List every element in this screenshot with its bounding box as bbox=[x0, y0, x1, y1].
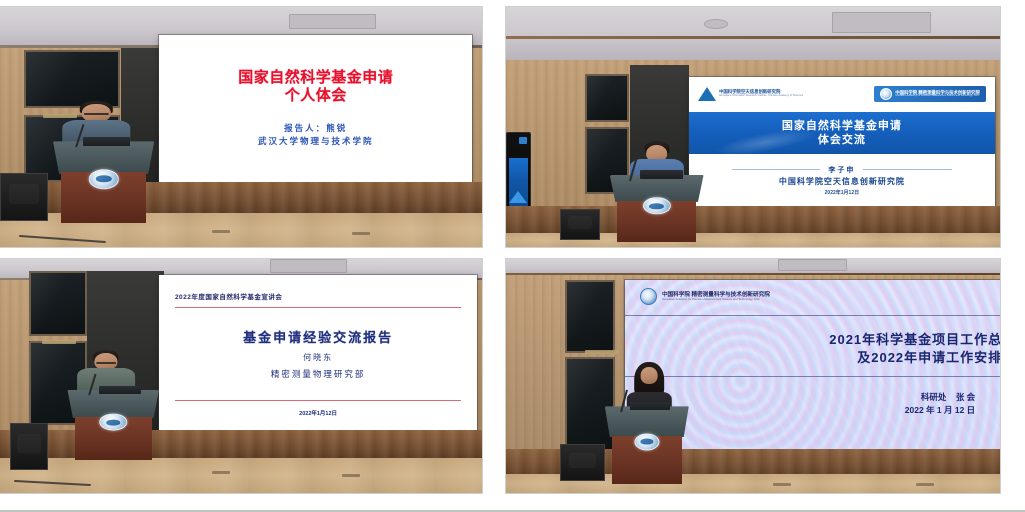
laptop-icon bbox=[99, 386, 141, 394]
slide2-title-band: 国家自然科学基金申请 体会交流 bbox=[689, 112, 995, 155]
apm-logo-en: Innovation Academy for Precision Measure… bbox=[895, 95, 980, 98]
floor-vent-icon bbox=[773, 483, 791, 486]
divider bbox=[863, 169, 952, 170]
panel-top-right[interactable]: 中国科学院空天信息创新研究院 Aerospace Information Res… bbox=[497, 0, 1025, 253]
slide4-logo-bar: 中国科学院 精密测量科学与技术创新研究院 Innovation Academy … bbox=[625, 280, 1001, 314]
projection-screen-2: 中国科学院空天信息创新研究院 Aerospace Information Res… bbox=[689, 77, 995, 207]
slide3-date: 2022年1月12日 bbox=[175, 409, 461, 417]
kiosk-badge-icon bbox=[519, 137, 527, 144]
slide1-title: 国家自然科学基金申请 个人体会 bbox=[172, 69, 460, 104]
photo-top-left: 国家自然科学基金申请 个人体会 报告人：熊锐 武汉大学物理与技术学院 bbox=[0, 6, 483, 248]
slide2-date: 2022年1月12日 bbox=[825, 189, 859, 196]
kiosk-screen bbox=[509, 158, 528, 207]
ceiling-light-icon bbox=[704, 19, 729, 29]
photo-top-right: 中国科学院空天信息创新研究院 Aerospace Information Res… bbox=[505, 6, 1001, 248]
laptop-icon bbox=[630, 402, 670, 410]
floor-vent-icon bbox=[342, 474, 360, 477]
slide3-title: 基金申请经验交流报告 bbox=[175, 327, 461, 346]
podium-logo-icon bbox=[634, 433, 659, 450]
slide2-footer: 李子申 中国科学院空天信息创新研究院 2022年1月12日 bbox=[689, 154, 995, 206]
slide3-affiliation: 精密测量物理研究部 bbox=[175, 368, 461, 380]
podium-3[interactable] bbox=[67, 390, 159, 460]
cas-seal-icon bbox=[640, 288, 657, 305]
loudspeaker-icon bbox=[0, 173, 48, 221]
slide4-header-en: Innovation Academy for Precision Measure… bbox=[662, 298, 770, 301]
panel-bottom-left[interactable]: 2022年度国家自然科学基金宣讲会 基金申请经验交流报告 何晓东 精密测量物理研… bbox=[0, 253, 497, 512]
floor-vent-icon bbox=[916, 483, 934, 486]
slide2-title-line1: 国家自然科学基金申请 bbox=[782, 119, 902, 133]
apm-logo: 中国科学院 精密测量科学与技术创新研究院 Innovation Academy … bbox=[874, 86, 986, 102]
head bbox=[641, 367, 658, 384]
slide1-affiliation: 武汉大学物理与技术学院 bbox=[172, 135, 460, 149]
blackboard-upper bbox=[565, 280, 614, 353]
floor-vent-icon bbox=[212, 230, 230, 233]
ceiling-vent-icon bbox=[832, 12, 931, 34]
floor-vent-icon bbox=[212, 471, 230, 474]
slide3-header: 2022年度国家自然科学基金宣讲会 bbox=[175, 291, 461, 301]
divider-top bbox=[625, 315, 1001, 316]
laptop-icon bbox=[640, 170, 683, 179]
cas-seal-icon bbox=[880, 88, 892, 100]
panel-bottom-right[interactable]: 中国科学院 精密测量科学与技术创新研究院 Innovation Academy … bbox=[497, 253, 1025, 512]
glasses-icon bbox=[84, 113, 108, 115]
blackboard-upper bbox=[585, 74, 629, 122]
loudspeaker-icon bbox=[560, 444, 604, 481]
divider bbox=[732, 169, 821, 170]
loudspeaker-icon bbox=[10, 423, 49, 470]
photo-bottom-left: 2022年度国家自然科学基金宣讲会 基金申请经验交流报告 何晓东 精密测量物理研… bbox=[0, 258, 483, 494]
slide3-presenter: 何晓东 bbox=[175, 352, 461, 363]
divider-bottom bbox=[625, 376, 1001, 377]
podium-logo-icon bbox=[100, 414, 127, 431]
glasses-icon bbox=[96, 362, 116, 364]
photo-bottom-right: 中国科学院 精密测量科学与技术创新研究院 Innovation Academy … bbox=[505, 258, 1001, 494]
photo-collage: 国家自然科学基金申请 个人体会 报告人：熊锐 武汉大学物理与技术学院 bbox=[0, 0, 1025, 512]
podium-2[interactable] bbox=[610, 175, 704, 242]
podium-1[interactable] bbox=[53, 141, 154, 223]
slide2-title-line2: 体会交流 bbox=[782, 133, 902, 147]
panel-top-left[interactable]: 国家自然科学基金申请 个人体会 报告人：熊锐 武汉大学物理与技术学院 bbox=[0, 0, 497, 253]
floor bbox=[0, 458, 482, 493]
ceiling-trim bbox=[506, 36, 1000, 39]
laptop-icon bbox=[83, 137, 130, 147]
slide4-title-line1: 2021年科学基金项目工作总 bbox=[625, 331, 1001, 349]
floor-vent-icon bbox=[352, 232, 370, 235]
ceiling-vent-icon bbox=[778, 259, 847, 271]
divider-bottom bbox=[175, 400, 461, 401]
podium-4[interactable] bbox=[605, 406, 689, 483]
slide1-presenter: 报告人：熊锐 bbox=[172, 122, 460, 136]
projection-screen-3: 2022年度国家自然科学基金宣讲会 基金申请经验交流报告 何晓东 精密测量物理研… bbox=[159, 275, 477, 429]
podium-logo-icon bbox=[88, 169, 118, 189]
ceiling-vent-icon bbox=[289, 14, 376, 28]
slide2-affiliation: 中国科学院空天信息创新研究院 bbox=[779, 176, 905, 187]
slide2-logo-bar: 中国科学院空天信息创新研究院 Aerospace Information Res… bbox=[689, 77, 995, 112]
air-logo-en: Aerospace Information Research Institute… bbox=[719, 95, 803, 98]
projection-screen-1: 国家自然科学基金申请 个人体会 报告人：熊锐 武汉大学物理与技术学院 bbox=[159, 35, 472, 184]
blackboard-upper bbox=[24, 50, 120, 108]
ceiling-vent-icon bbox=[270, 259, 347, 273]
slide2-presenter: 李子申 bbox=[828, 165, 855, 175]
slide4-department-row: 科研处 张 会 bbox=[625, 391, 976, 404]
blackboard-upper bbox=[29, 271, 87, 337]
air-logo: 中国科学院空天信息创新研究院 Aerospace Information Res… bbox=[698, 87, 803, 101]
triangle-logo-icon bbox=[698, 87, 716, 101]
loudspeaker-icon bbox=[560, 209, 600, 240]
kiosk-triangle-icon bbox=[509, 191, 527, 203]
slide4-title: 2021年科学基金项目工作总 及2022年申请工作安排 bbox=[625, 331, 1001, 367]
slide4-title-line2: 及2022年申请工作安排 bbox=[625, 349, 1001, 367]
